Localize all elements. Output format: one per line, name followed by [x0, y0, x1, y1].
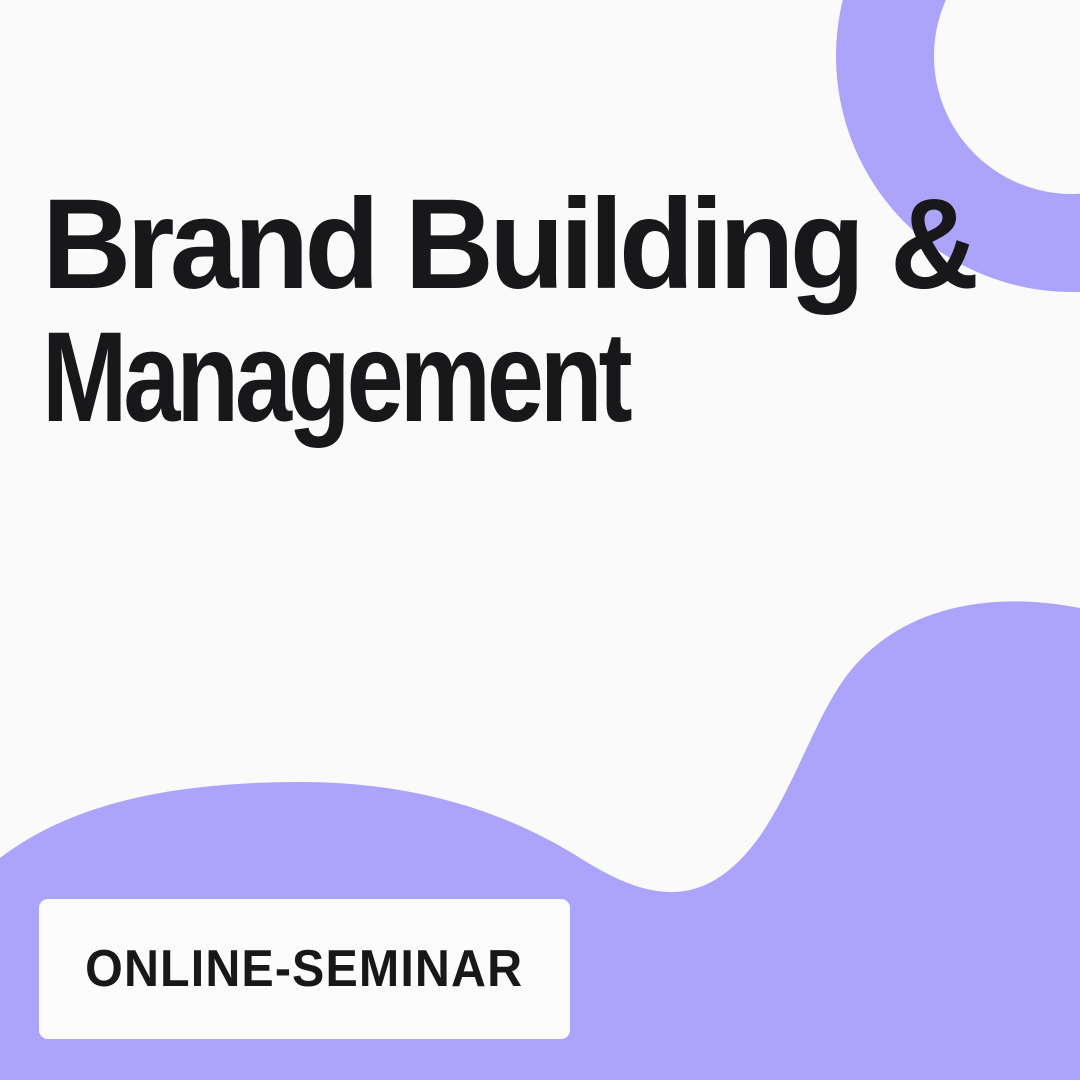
page-title-line-2: Management: [42, 311, 843, 444]
status-badge: ONLINE-SEMINAR: [39, 899, 570, 1039]
status-badge-label: ONLINE-SEMINAR: [85, 943, 523, 995]
page-title: Brand Building & Management: [42, 178, 1042, 444]
page-title-line-1: Brand Building &: [42, 178, 1008, 311]
poster-canvas: Brand Building & Management ONLINE-SEMIN…: [0, 0, 1080, 1080]
